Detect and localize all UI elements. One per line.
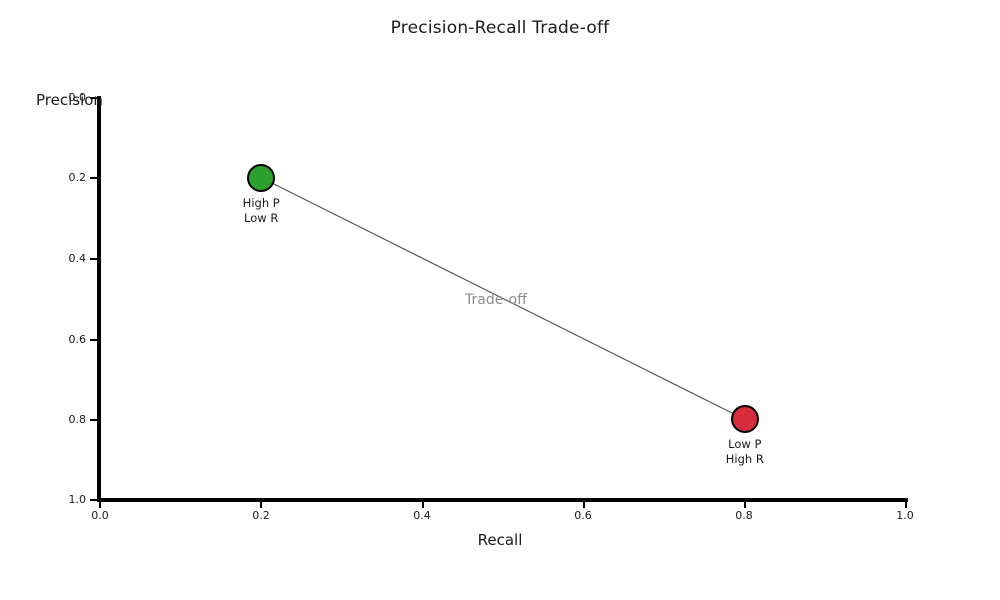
x-tick-label-1: 0.2 [236, 509, 286, 522]
data-point-label-high-precision-low-recall: High P Low R [181, 196, 341, 226]
data-point-label-low-precision-high-recall: Low P High R [665, 437, 825, 467]
y-tick-3 [90, 339, 98, 341]
x-tick-label-0: 0.0 [75, 509, 125, 522]
page-title: Precision-Recall Trade-off [0, 18, 1000, 38]
x-axis-spine [97, 498, 908, 502]
y-tick-5 [90, 499, 98, 501]
y-tick-2 [90, 258, 98, 260]
x-tick-label-2: 0.4 [397, 509, 447, 522]
x-tick-0 [99, 500, 101, 508]
x-tick-2 [422, 500, 424, 508]
x-tick-5 [905, 500, 907, 508]
y-tick-1 [90, 177, 98, 179]
x-tick-3 [583, 500, 585, 508]
trade-off-line-label: Trade-off [465, 292, 527, 308]
x-tick-4 [744, 500, 746, 508]
y-tick-label-3: 0.6 [46, 333, 86, 346]
x-tick-label-4: 0.8 [719, 509, 769, 522]
y-tick-4 [90, 419, 98, 421]
data-point-low-precision-high-recall[interactable] [731, 405, 759, 433]
y-tick-label-5: 1.0 [46, 493, 86, 506]
y-tick-label-2: 0.4 [46, 252, 86, 265]
y-tick-label-4: 0.8 [46, 413, 86, 426]
y-axis-spine [97, 96, 101, 502]
x-tick-label-5: 1.0 [880, 509, 930, 522]
x-axis-label: Recall [0, 531, 1000, 549]
x-tick-label-3: 0.6 [558, 509, 608, 522]
y-axis-label: Precision [36, 91, 103, 109]
y-tick-label-1: 0.2 [46, 171, 86, 184]
x-tick-1 [260, 500, 262, 508]
data-point-high-precision-low-recall[interactable] [247, 164, 275, 192]
chart-figure: Precision-Recall Trade-off 0.0 0.2 0.4 0… [0, 0, 1000, 600]
